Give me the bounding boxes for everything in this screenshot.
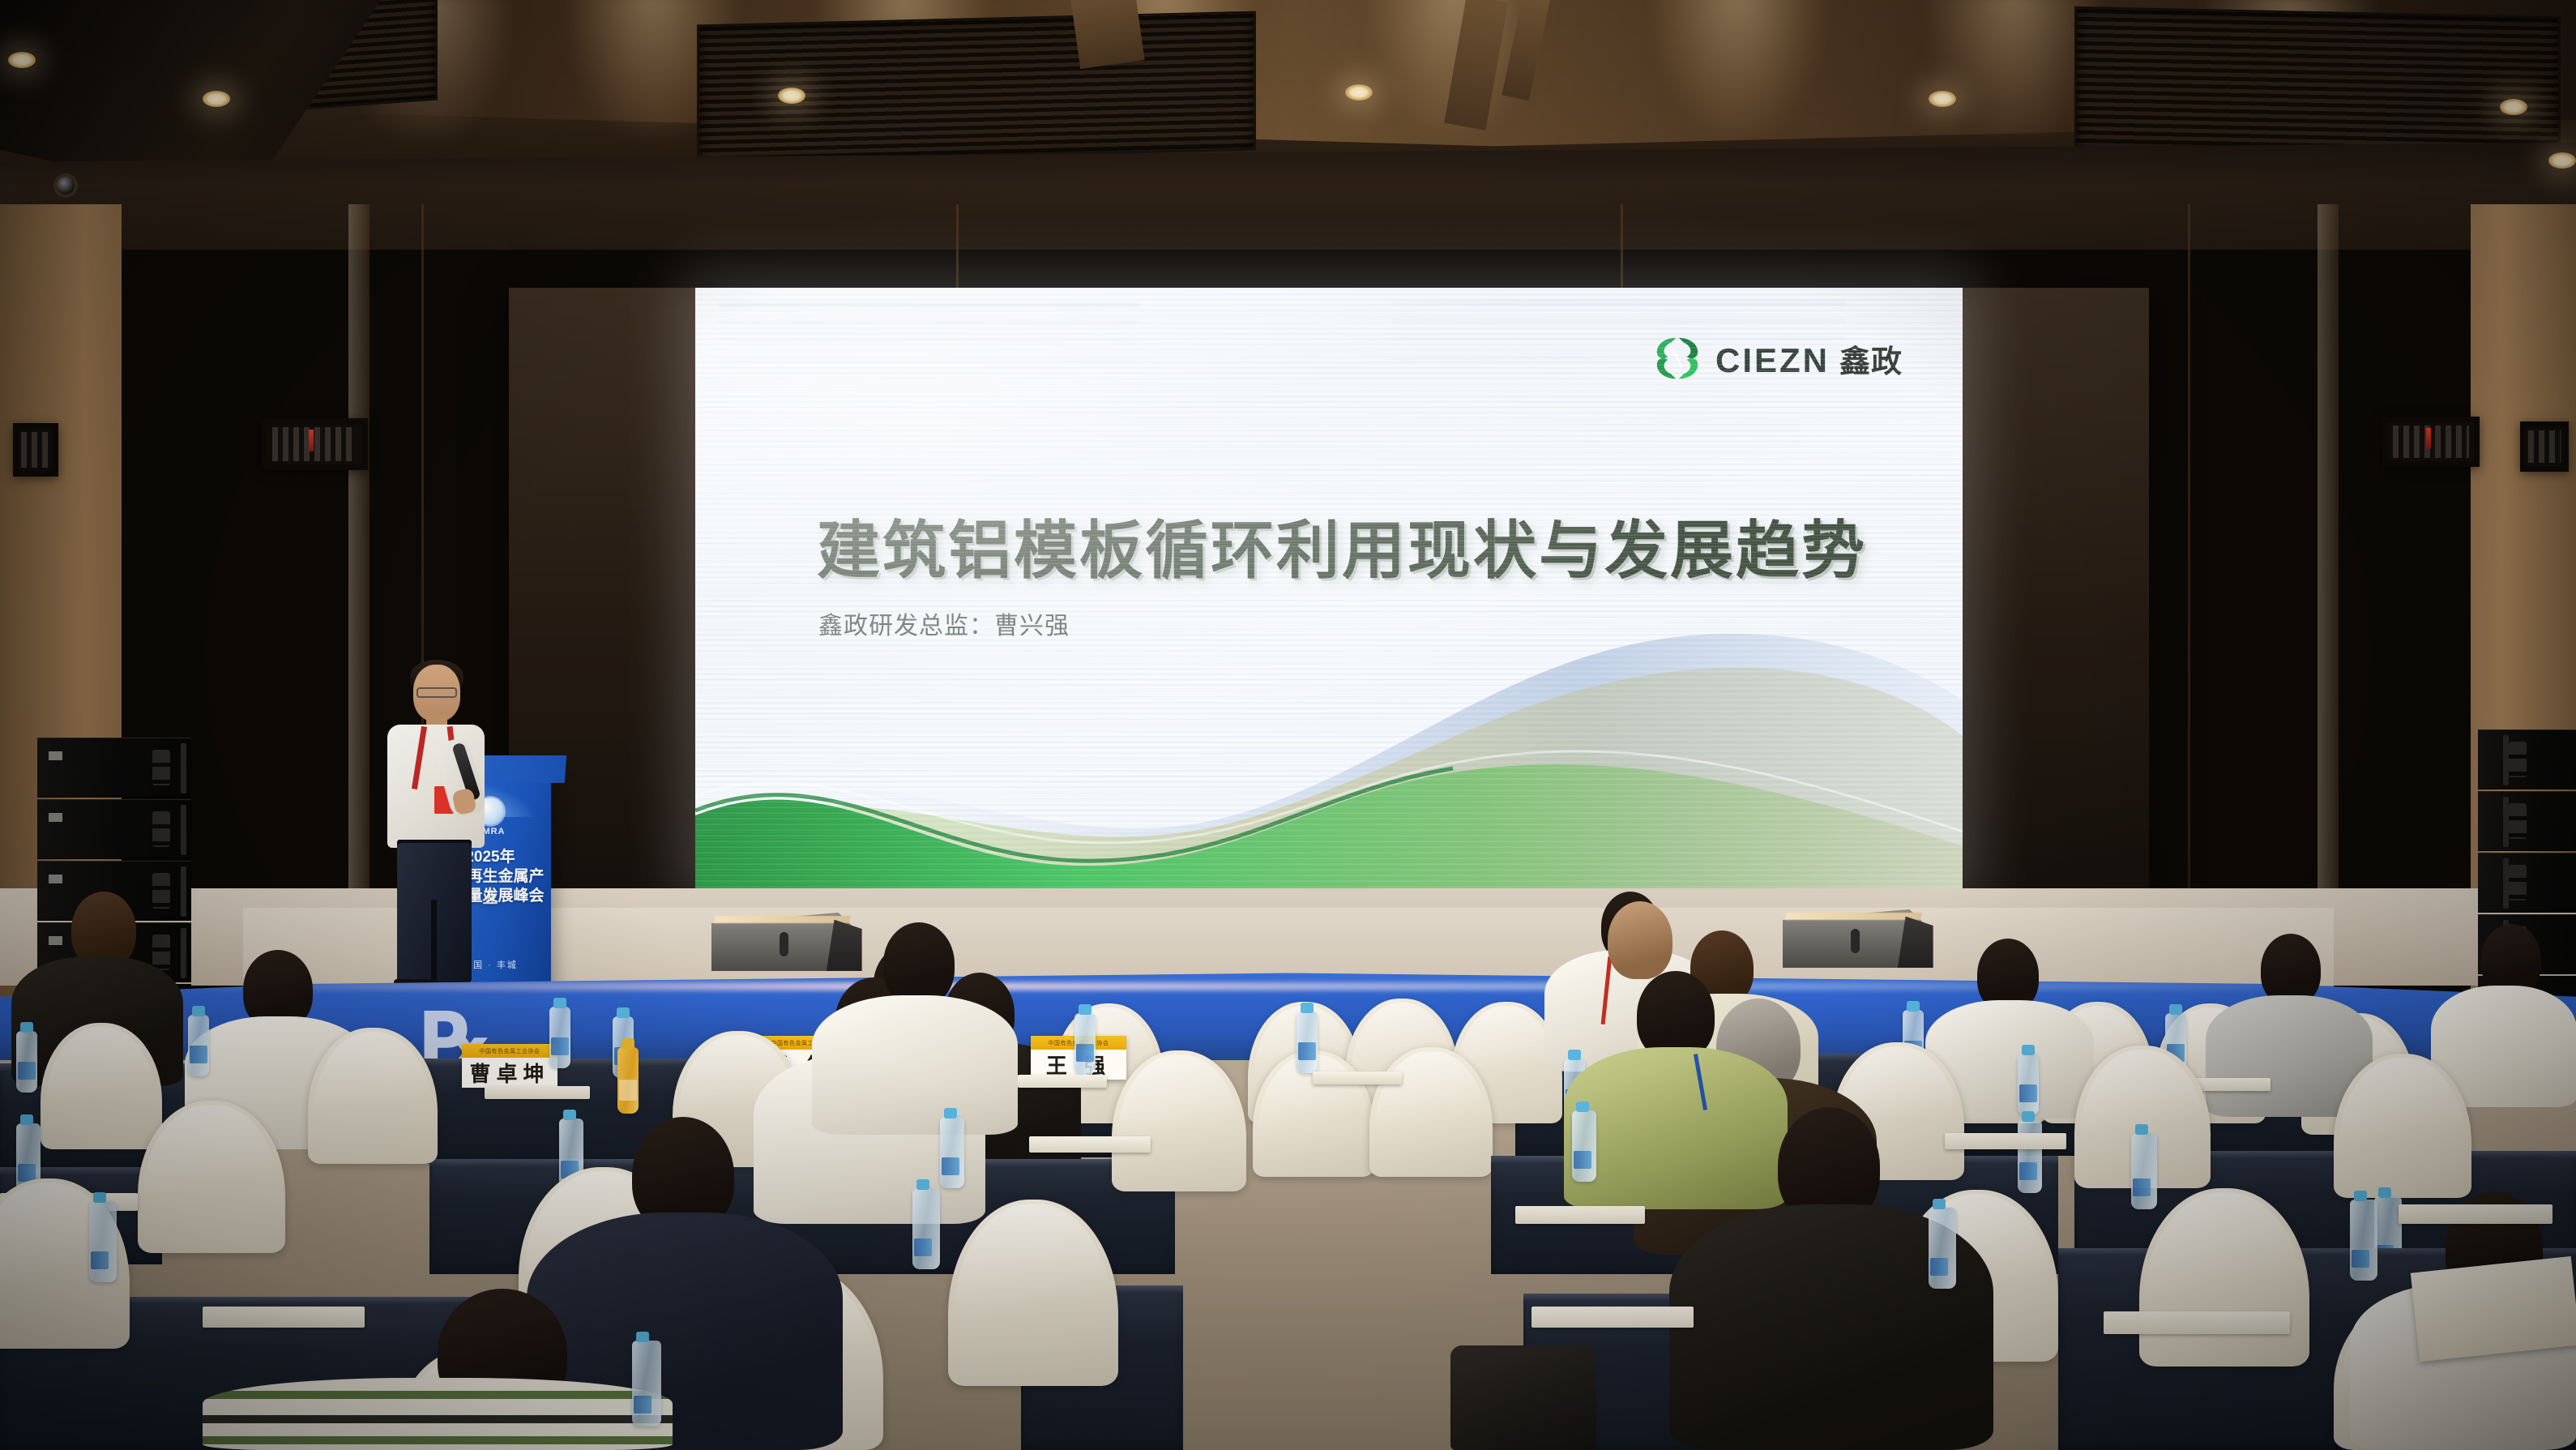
ceiling-wall-glow [1653,0,1823,133]
water-bottle[interactable] [549,1007,570,1068]
niche-slats [2393,426,2468,458]
water-bottle[interactable] [1074,1013,1096,1075]
stage-monitor-wedge [1783,909,1930,968]
ceiling-downlight [8,52,36,68]
slide-wave-graphic [695,622,1963,890]
floor-bag[interactable] [1450,1345,1596,1450]
presenter-person [374,665,488,997]
brochure-stack[interactable] [2411,1256,2576,1362]
water-bottle[interactable] [2018,1054,2039,1115]
wedge-handle-slot [780,932,788,956]
wall-pilaster [2318,204,2339,982]
speaker-port [2509,803,2527,839]
water-bottle[interactable] [2131,1133,2157,1209]
wall-pilaster [348,204,370,982]
water-bottle[interactable] [1572,1110,1596,1182]
notepad[interactable] [1313,1071,1402,1084]
speaker-port [152,811,170,847]
speaker-port [152,750,170,785]
ceiling-vent-grille [697,11,1256,165]
notepad[interactable] [1532,1307,1694,1328]
ceiling-downlight [1929,91,1956,107]
audience-torso [1564,1047,1788,1209]
speaker-port [152,873,170,909]
ceiling-downlight [2500,99,2527,115]
line-array-module [2478,729,2576,789]
name-card-org-band: 中国有色金属工业协会 [462,1044,557,1058]
notepad[interactable] [203,1307,365,1328]
slide-title: 建筑铝模板循环利用现状与发展趋势 [817,500,1867,591]
wedge-top-lip [1785,913,1923,920]
tea-bottle[interactable] [617,1047,639,1114]
rigging-bracket [2503,735,2509,785]
name-card-name: 曹卓坤 [462,1058,557,1088]
line-array-module [37,799,191,859]
water-bottle[interactable] [1929,1208,1956,1289]
speaker-port [2509,865,2527,900]
wall-niche-decor [2520,421,2569,472]
brand-text-group: CIEZN 鑫政 [1715,336,1903,381]
audience-torso [812,995,1018,1135]
line-array-module [2478,853,2576,913]
niche-red-accent [2426,428,2431,449]
notepad[interactable] [1515,1206,1645,1224]
ceiling-downlight [203,91,230,107]
rigging-bracket [2503,797,2509,847]
rigging-bracket [2503,858,2509,909]
audience-torso [203,1378,673,1450]
rigging-bracket [181,928,186,978]
speaker-brand-badge [49,813,62,822]
wedge-top-lip [714,916,852,923]
speaker-brand-badge [49,936,62,945]
niche-red-accent [309,430,314,451]
water-bottle[interactable] [940,1117,964,1188]
notepad[interactable] [485,1086,590,1099]
rigging-bracket [181,743,186,793]
audience-head [883,922,955,1005]
niche-slats [21,432,51,468]
led-video-wall: CIEZN 鑫政 建筑铝模板循环利用现状与发展趋势 鑫政研发总监：曹兴强 [509,288,2149,890]
notepad[interactable] [2104,1311,2290,1334]
wedge-handle-slot [1851,929,1860,953]
water-bottle[interactable] [632,1341,661,1426]
line-array-module [37,738,191,798]
slide-brand-lockup: CIEZN 鑫政 [1652,333,1903,383]
wall-panel-seam [2188,204,2190,982]
ceiling-vent-grille [2074,6,2561,161]
ciezn-pinwheel-logo-icon [1652,333,1702,383]
niche-slats [272,427,357,461]
ceiling-beam [1070,0,1145,69]
notepad[interactable] [1029,1136,1151,1153]
stage-monitor-wedge [711,913,859,971]
water-bottle[interactable] [912,1188,940,1269]
niche-slats [2528,430,2561,463]
wall-niche-decor [2382,417,2480,467]
audience-head [2481,924,2541,995]
speaker-port [2509,742,2527,777]
audience-head [1608,901,1672,979]
audience-head [2261,934,2321,1005]
name-card: 中国有色金属工业协会 曹卓坤 [462,1044,557,1088]
water-bottle[interactable] [1297,1012,1318,1073]
speaker-brand-badge [49,751,62,760]
glasses-icon [417,687,457,698]
brand-chinese-text: 鑫政 [1839,336,1903,381]
speaker-brand-badge [49,875,62,883]
ceiling-downlight [778,88,805,104]
wall-niche-decor [261,418,368,470]
notepad[interactable] [1945,1133,2066,1149]
water-bottle[interactable] [2018,1120,2042,1193]
water-bottle[interactable] [2350,1200,2377,1281]
speaker-port [152,935,170,970]
line-array-module [2478,791,2576,851]
brand-latin-text: CIEZN [1715,341,1830,380]
ceiling-wall-glow [1929,0,2099,136]
ceiling-camera-dome-icon [57,177,75,195]
conference-hall-scene: CIEZN 鑫政 建筑铝模板循环利用现状与发展趋势 鑫政研发总监：曹兴强 [0,0,2576,1450]
water-bottle[interactable] [89,1201,117,1282]
presenter-leg-split [431,900,437,984]
rigging-bracket [181,866,186,917]
led-wall-right-panel [1963,288,2149,890]
wall-niche-decor [13,423,58,477]
water-bottle[interactable] [188,1015,209,1076]
water-bottle[interactable] [16,1031,37,1093]
notepad[interactable] [2399,1204,2553,1224]
rigging-bracket [181,805,186,855]
presentation-slide: CIEZN 鑫政 建筑铝模板循环利用现状与发展趋势 鑫政研发总监：曹兴强 [695,288,1963,890]
ceiling-downlight [1345,84,1373,101]
ceiling-downlight [2548,152,2576,169]
notepad[interactable] [1018,1075,1107,1088]
